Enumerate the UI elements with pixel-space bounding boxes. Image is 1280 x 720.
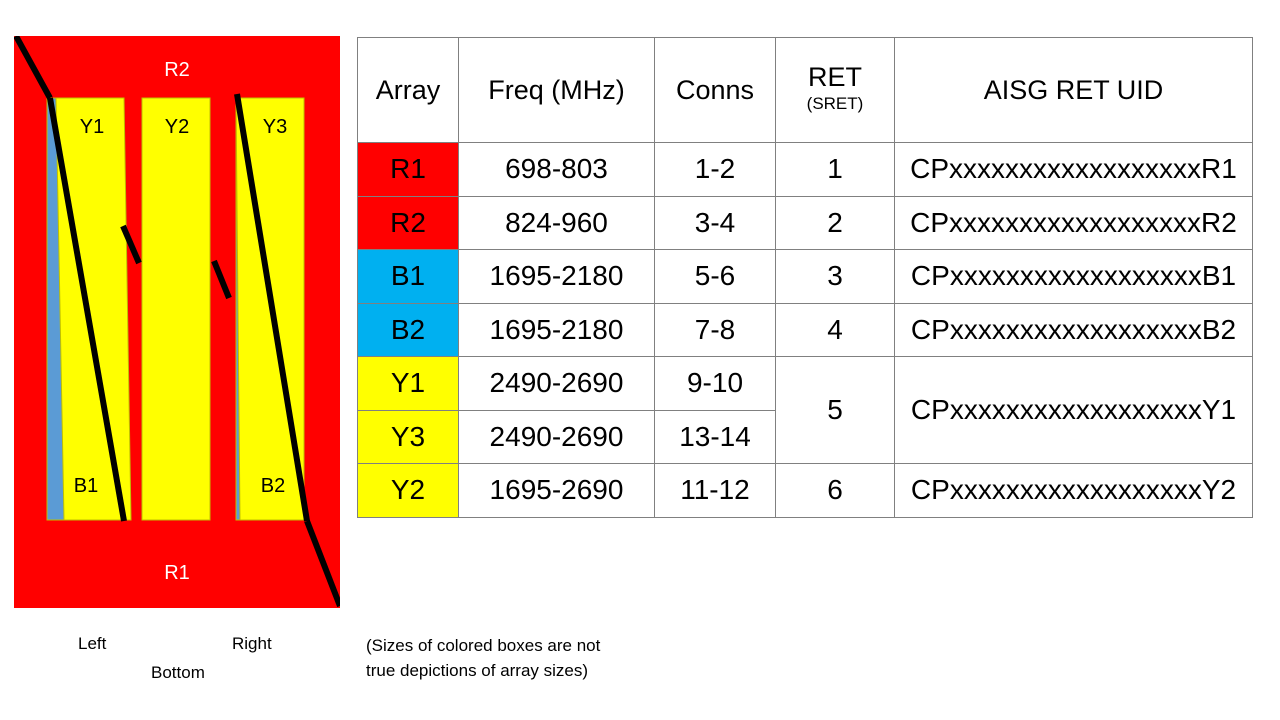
cell-uid: CPxxxxxxxxxxxxxxxxxxR2 [895, 196, 1253, 250]
header-ret: RET (SRET) [776, 38, 895, 143]
cell-conns: 9-10 [655, 357, 776, 411]
cell-ret: 3 [776, 250, 895, 304]
cell-uid: CPxxxxxxxxxxxxxxxxxxB2 [895, 303, 1253, 357]
cell-uid: CPxxxxxxxxxxxxxxxxxxR1 [895, 143, 1253, 197]
diagram-label-r2: R2 [164, 59, 190, 81]
cell-uid: CPxxxxxxxxxxxxxxxxxxB1 [895, 250, 1253, 304]
cell-conns: 1-2 [655, 143, 776, 197]
table-row: Y12490-26909-105CPxxxxxxxxxxxxxxxxxxY1 [358, 357, 1253, 411]
cell-uid: CPxxxxxxxxxxxxxxxxxxY2 [895, 464, 1253, 518]
cell-conns: 5-6 [655, 250, 776, 304]
cell-array: Y3 [358, 410, 459, 464]
cell-ret: 4 [776, 303, 895, 357]
table-row: R1698-8031-21CPxxxxxxxxxxxxxxxxxxR1 [358, 143, 1253, 197]
diagram-label-y2: Y2 [165, 116, 189, 138]
table-row: R2824-9603-42CPxxxxxxxxxxxxxxxxxxR2 [358, 196, 1253, 250]
table-row: B11695-21805-63CPxxxxxxxxxxxxxxxxxxB1 [358, 250, 1253, 304]
cell-conns: 7-8 [655, 303, 776, 357]
table-row: B21695-21807-84CPxxxxxxxxxxxxxxxxxxB2 [358, 303, 1253, 357]
header-freq: Freq (MHz) [459, 38, 655, 143]
footnote: (Sizes of colored boxes are not true dep… [366, 634, 696, 683]
table-row: Y21695-269011-126CPxxxxxxxxxxxxxxxxxxY2 [358, 464, 1253, 518]
diagram-label-y3: Y3 [263, 116, 287, 138]
cell-array: R1 [358, 143, 459, 197]
header-uid: AISG RET UID [895, 38, 1253, 143]
header-ret-main: RET [776, 64, 894, 91]
table-body: R1698-8031-21CPxxxxxxxxxxxxxxxxxxR1R2824… [358, 143, 1253, 518]
cell-array: Y2 [358, 464, 459, 518]
cell-conns: 13-14 [655, 410, 776, 464]
diagram-label-b1: B1 [74, 475, 98, 497]
cell-freq: 1695-2180 [459, 250, 655, 304]
orientation-label-left: Left [78, 634, 106, 654]
cell-array: R2 [358, 196, 459, 250]
cell-freq: 698-803 [459, 143, 655, 197]
footnote-line-2: true depictions of array sizes) [366, 659, 696, 684]
header-conns: Conns [655, 38, 776, 143]
cell-array: Y1 [358, 357, 459, 411]
cell-array: B2 [358, 303, 459, 357]
cell-freq: 824-960 [459, 196, 655, 250]
cell-conns: 3-4 [655, 196, 776, 250]
cell-array: B1 [358, 250, 459, 304]
diagram-panel: R2 R1 Y1 Y2 Y3 B1 B2 Left Right Bottom [0, 0, 350, 720]
table-header-row: Array Freq (MHz) Conns RET (SRET) AISG R… [358, 38, 1253, 143]
cell-ret: 1 [776, 143, 895, 197]
cell-freq: 1695-2180 [459, 303, 655, 357]
orientation-label-right: Right [232, 634, 272, 654]
orientation-label-bottom: Bottom [151, 663, 205, 683]
header-array: Array [358, 38, 459, 143]
array-ret-uid-table: Array Freq (MHz) Conns RET (SRET) AISG R… [357, 37, 1253, 518]
diagram-label-b2: B2 [261, 475, 285, 497]
cell-ret: 6 [776, 464, 895, 518]
y1-array-shape [56, 98, 131, 520]
cell-freq: 2490-2690 [459, 410, 655, 464]
antenna-array-diagram: R2 R1 Y1 Y2 Y3 B1 B2 [14, 36, 340, 608]
cell-freq: 2490-2690 [459, 357, 655, 411]
header-ret-sub: (SRET) [776, 91, 894, 117]
diagram-label-r1: R1 [164, 562, 190, 584]
cell-uid: CPxxxxxxxxxxxxxxxxxxY1 [895, 357, 1253, 464]
cell-freq: 1695-2690 [459, 464, 655, 518]
cell-conns: 11-12 [655, 464, 776, 518]
footnote-line-1: (Sizes of colored boxes are not [366, 634, 696, 659]
cell-ret: 5 [776, 357, 895, 464]
cell-ret: 2 [776, 196, 895, 250]
y2-array-shape [142, 98, 210, 520]
diagram-label-y1: Y1 [80, 116, 104, 138]
